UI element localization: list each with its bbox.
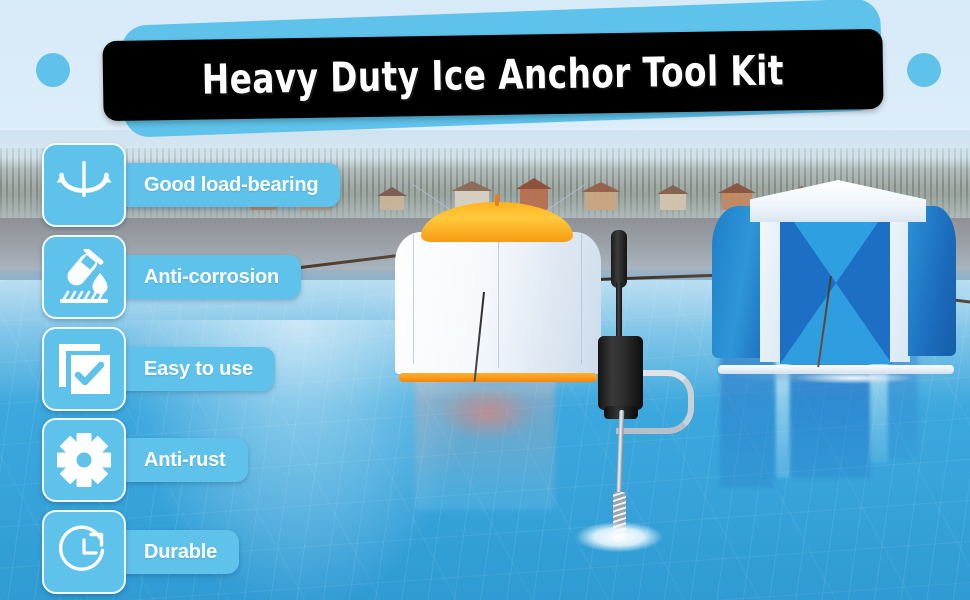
tent-blue-triangle-bottom (780, 283, 892, 364)
tent-white-body (395, 232, 601, 374)
feature-item-load-bearing[interactable]: Good load-bearing (42, 143, 340, 227)
gear-icon (42, 418, 126, 502)
test-tube-droplet-icon (42, 235, 126, 319)
feature-item-durable[interactable]: Durable (42, 510, 239, 594)
feature-pill-load-bearing: Good load-bearing (112, 163, 340, 207)
product-banner: Heavy Duty Ice Anchor Tool Kit Good load… (0, 0, 970, 600)
feature-pill-easy-to-use: Easy to use (112, 347, 275, 391)
decor-dot-right (907, 53, 941, 87)
tool-handle-grip (611, 230, 627, 288)
tent-white-base-trim (399, 373, 597, 382)
feature-label: Anti-rust (144, 449, 226, 472)
reflection-orange-glow (440, 385, 535, 440)
feature-list: Good load-bearing (0, 0, 420, 600)
feature-label: Good load-bearing (144, 174, 318, 197)
tent-blue-left-panel (712, 206, 764, 358)
ice-anchor-tool (598, 230, 688, 600)
tool-black-body (598, 336, 643, 410)
feature-pill-anti-rust: Anti-rust (112, 438, 248, 482)
feature-label: Easy to use (144, 358, 253, 381)
feature-label: Anti-corrosion (144, 266, 279, 289)
ice-hole-snow-ring (576, 522, 662, 552)
ice-fishing-tent-white (393, 202, 603, 392)
feature-item-easy-to-use[interactable]: Easy to use (42, 327, 275, 411)
anchor-icon (42, 143, 126, 227)
tent-blue-right-seam (890, 202, 910, 362)
ice-fishing-tent-blue (712, 180, 962, 390)
tent-blue-left-seam (760, 204, 782, 362)
feature-pill-durable: Durable (112, 530, 239, 574)
tool-shaft (616, 282, 622, 344)
feature-label: Durable (144, 541, 217, 564)
checklist-document-icon (42, 327, 126, 411)
tent-blue-right-panel (908, 206, 956, 356)
feature-pill-anti-corrosion: Anti-corrosion (112, 255, 301, 299)
tent-blue-snow-pile (794, 372, 914, 384)
feature-item-anti-rust[interactable]: Anti-rust (42, 418, 248, 502)
tent-blue-front-panel (780, 202, 892, 364)
clock-refresh-icon (42, 510, 126, 594)
feature-item-anti-corrosion[interactable]: Anti-corrosion (42, 235, 301, 319)
tent-blue-roof (750, 180, 926, 222)
